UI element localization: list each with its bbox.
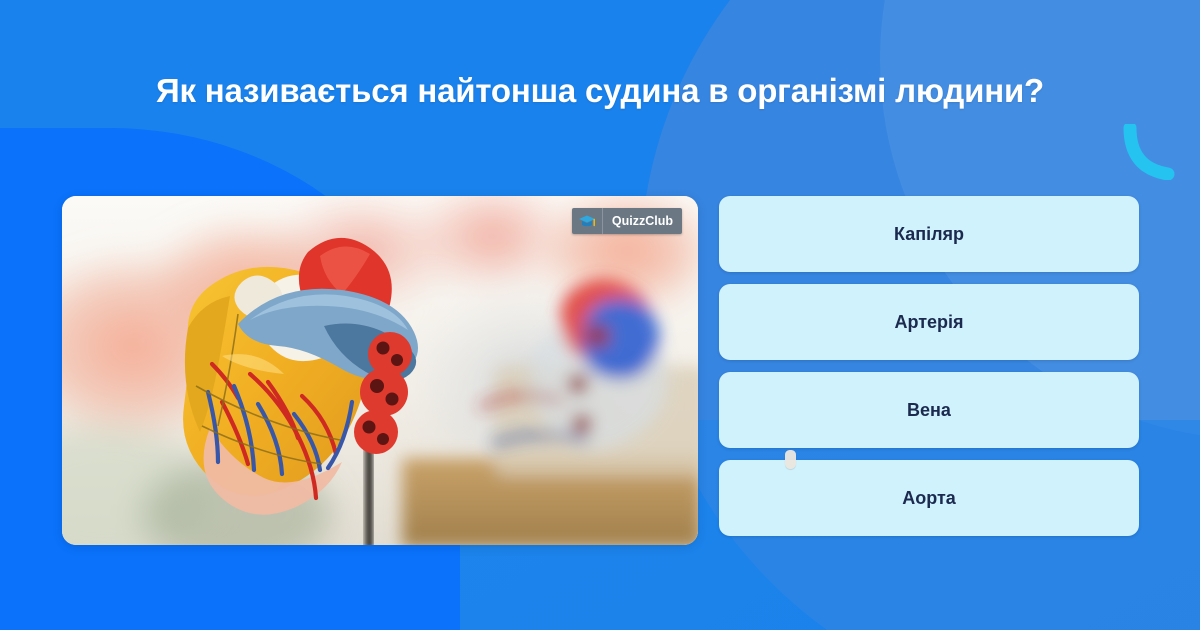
cursor-pointer-artifact	[785, 450, 796, 469]
answer-option-2[interactable]: Артерія	[719, 284, 1139, 360]
answer-option-4-label: Аорта	[902, 488, 956, 509]
answer-option-3-label: Вена	[907, 400, 951, 421]
answer-option-1-label: Капіляр	[894, 224, 964, 245]
swoosh-decoration-icon	[1122, 124, 1176, 180]
question-image-card: QuizzClub	[62, 196, 698, 545]
heart-model-photo	[62, 196, 698, 545]
answer-option-3[interactable]: Вена	[719, 372, 1139, 448]
question-title: Як називається найтонша судина в організ…	[0, 72, 1200, 110]
quizzclub-watermark: QuizzClub	[572, 208, 682, 234]
answer-option-1[interactable]: Капіляр	[719, 196, 1139, 272]
graduation-cap-icon	[572, 208, 602, 234]
answer-option-2-label: Артерія	[894, 312, 963, 333]
answer-options-list: Капіляр Артерія Вена Аорта	[719, 196, 1139, 536]
answer-option-4[interactable]: Аорта	[719, 460, 1139, 536]
watermark-brand-label: QuizzClub	[602, 208, 682, 234]
